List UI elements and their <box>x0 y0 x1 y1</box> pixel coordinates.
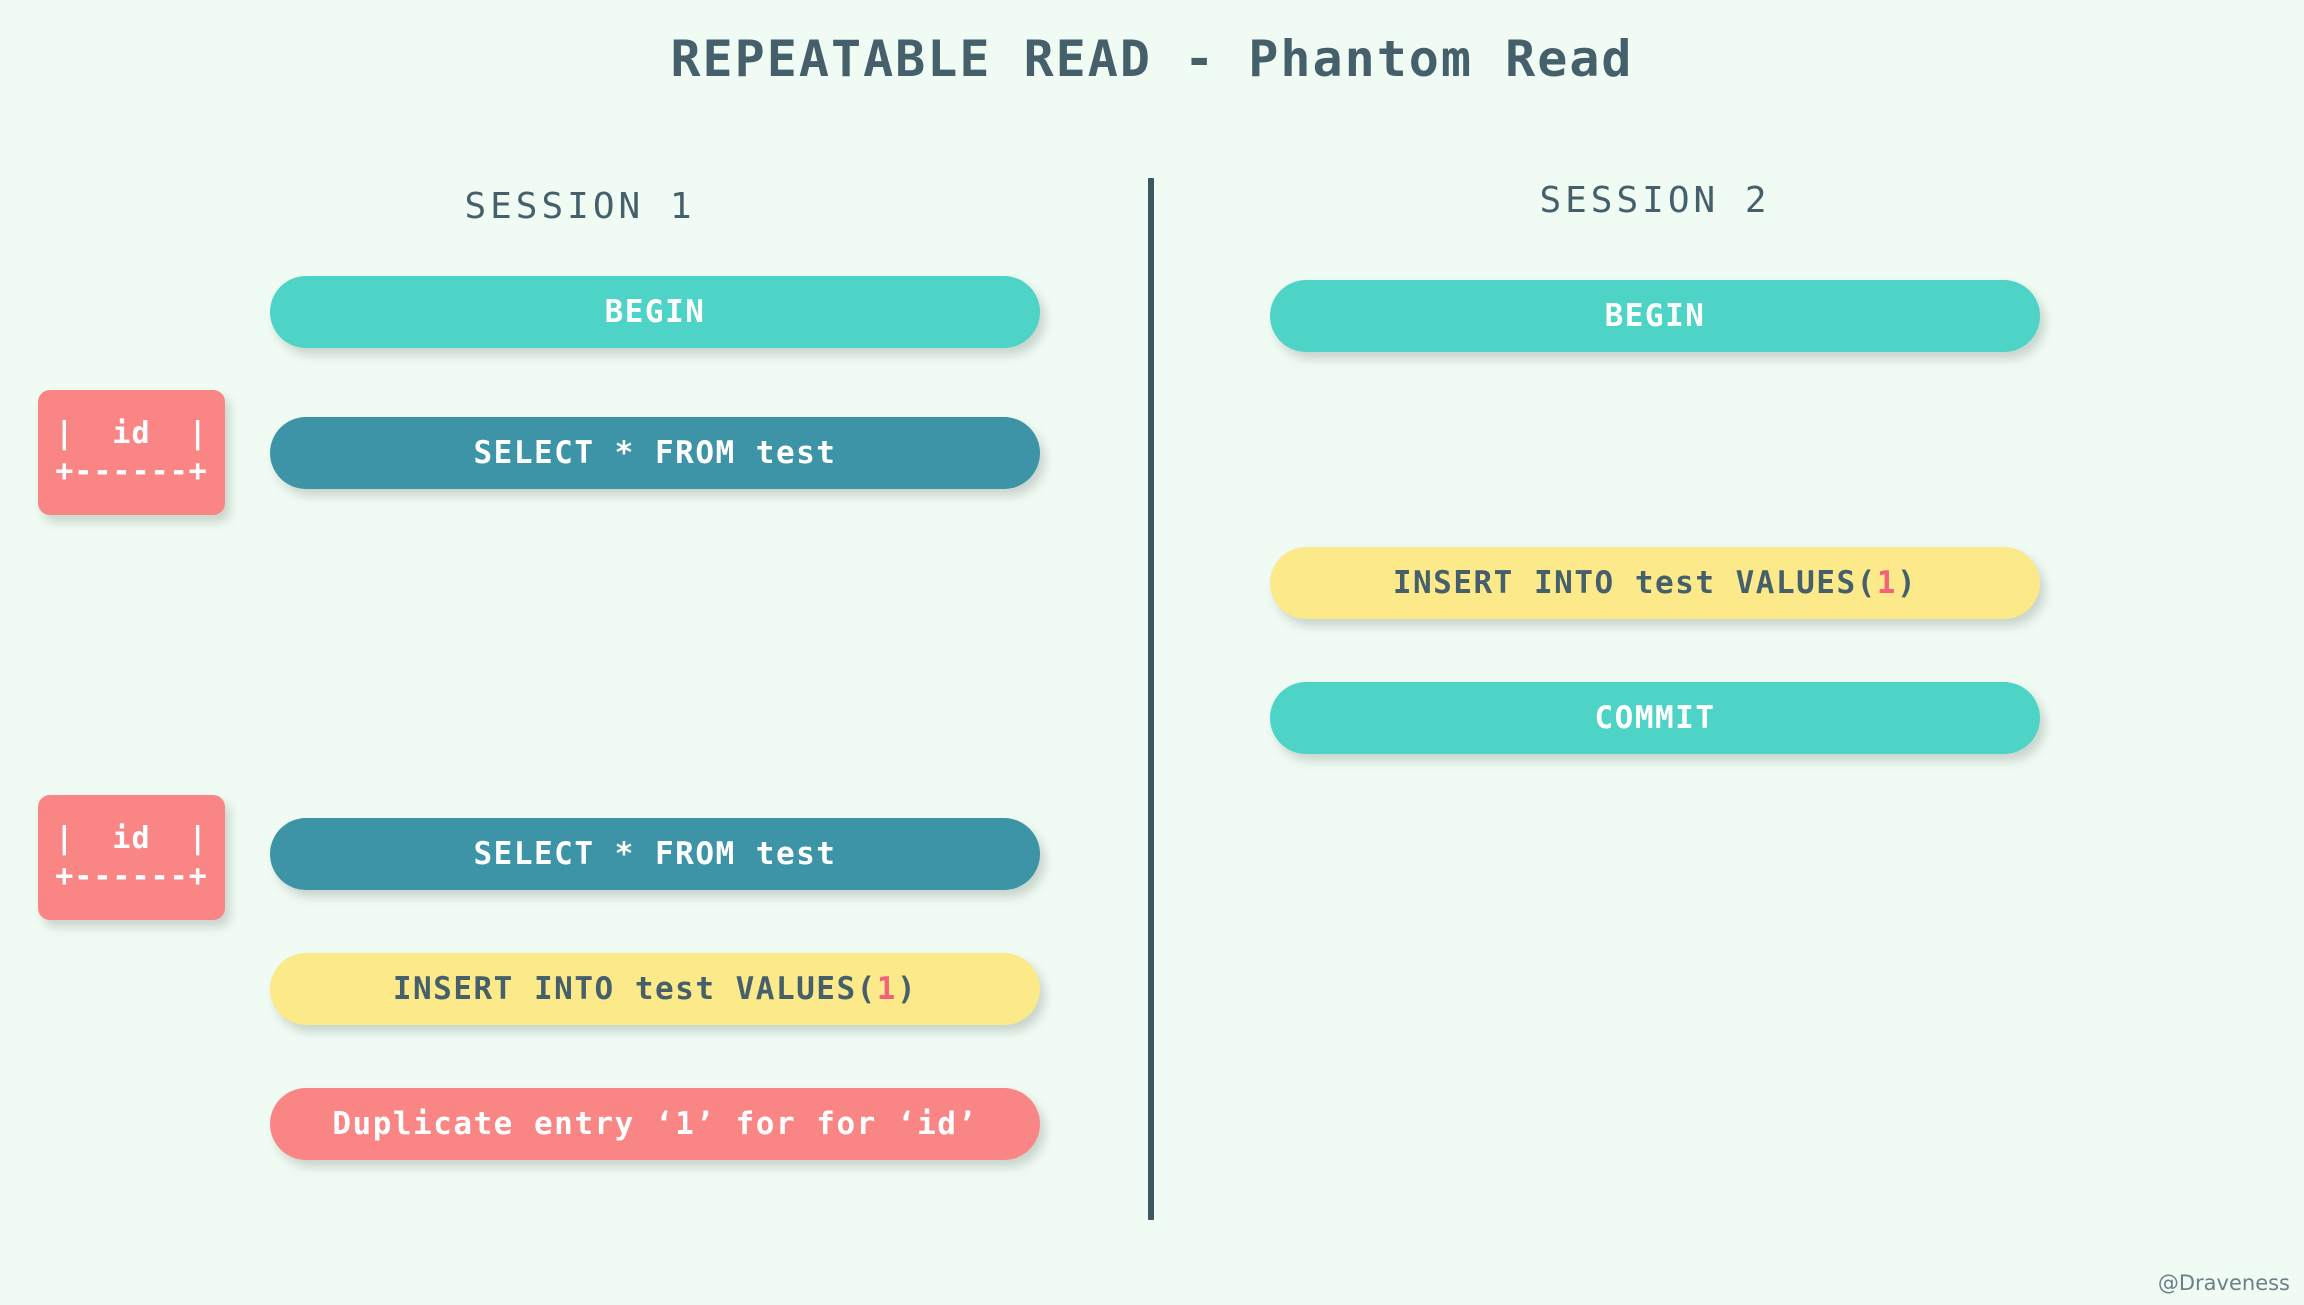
session-1-step-insert[interactable]: INSERT INTO test VALUES(1) <box>270 953 1040 1025</box>
step-label-highlight: 1 <box>1877 565 1897 601</box>
step-label: BEGIN <box>605 294 706 330</box>
session-2-step-begin[interactable]: BEGIN <box>1270 280 2040 352</box>
page-title: REPEATABLE READ - Phantom Read <box>0 30 2304 88</box>
session-2-header: SESSION 2 <box>1455 180 1855 221</box>
session-2-step-insert[interactable]: INSERT INTO test VALUES(1) <box>1270 547 2040 619</box>
step-label-suffix: ) <box>1897 565 1917 601</box>
step-label: SELECT * FROM test <box>474 836 837 872</box>
session-1-step-begin[interactable]: BEGIN <box>270 276 1040 348</box>
session-1-step-select-first[interactable]: SELECT * FROM test <box>270 417 1040 489</box>
step-label: INSERT INTO test VALUES( <box>1393 565 1877 601</box>
step-label: BEGIN <box>1605 298 1706 334</box>
session-1-result-box-first: | id | +------+ <box>38 390 225 515</box>
result-separator-row: +------+ <box>55 453 208 491</box>
session-1-result-box-second: | id | +------+ <box>38 795 225 920</box>
step-label: SELECT * FROM test <box>474 435 837 471</box>
result-header-row: | id | <box>55 820 208 858</box>
result-header-row: | id | <box>55 415 208 453</box>
session-1-step-select-second[interactable]: SELECT * FROM test <box>270 818 1040 890</box>
session-1-step-error[interactable]: Duplicate entry ‘1’ for for ‘id’ <box>270 1088 1040 1160</box>
error-message: Duplicate entry ‘1’ for for ‘id’ <box>332 1106 977 1142</box>
step-label: INSERT INTO test VALUES( <box>393 971 877 1007</box>
step-label: COMMIT <box>1595 700 1716 736</box>
result-separator-row: +------+ <box>55 858 208 896</box>
session-divider <box>1148 178 1154 1220</box>
session-1-header: SESSION 1 <box>380 186 780 227</box>
watermark: @Draveness <box>2158 1271 2290 1295</box>
step-label-suffix: ) <box>897 971 917 1007</box>
step-label-highlight: 1 <box>877 971 897 1007</box>
session-2-step-commit[interactable]: COMMIT <box>1270 682 2040 754</box>
